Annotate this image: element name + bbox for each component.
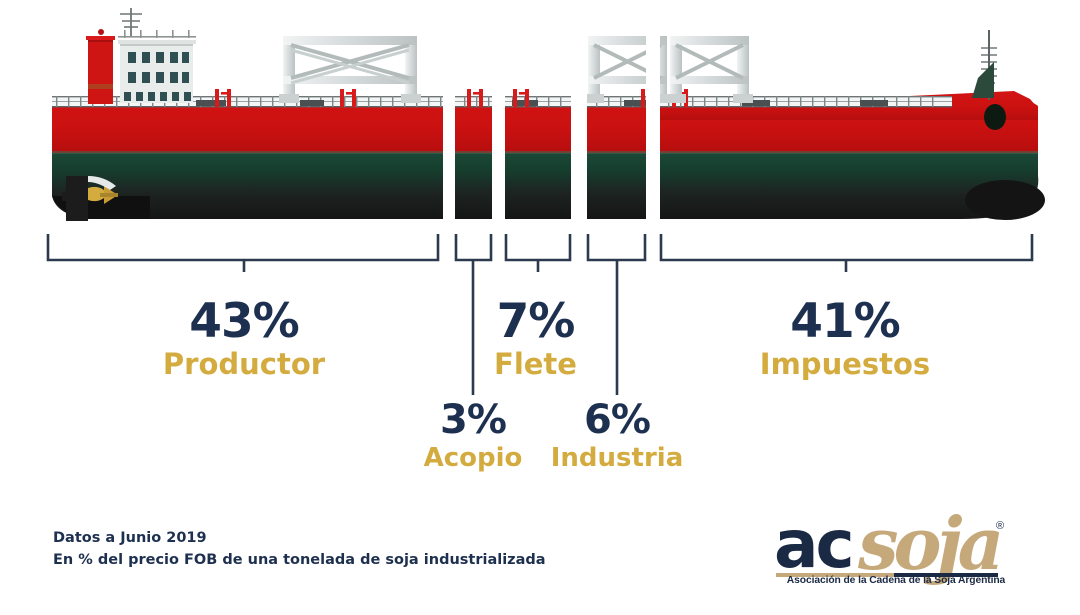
callout-industria-label: Industria — [522, 445, 712, 471]
callout-industria: 6% Industria — [522, 400, 712, 471]
footnote: Datos a Junio 2019 En % del precio FOB d… — [53, 527, 546, 572]
callout-industria-percent: 6% — [522, 400, 712, 440]
callout-flete-label: Flete — [453, 350, 618, 379]
footnote-line-2: En % del precio FOB de una tonelada de s… — [53, 549, 546, 571]
callout-impuestos-percent: 41% — [718, 298, 972, 345]
cargo-ship-illustration — [0, 0, 1080, 245]
bracket-flete — [506, 234, 570, 272]
callout-productor: 43% Productor — [113, 298, 375, 379]
logo-registered-icon: ® — [996, 520, 1004, 532]
logo-tagline: Asociación de la Cadena de la Soja Argen… — [772, 575, 1020, 586]
callout-flete: 7% Flete — [453, 298, 618, 379]
footnote-line-1: Datos a Junio 2019 — [53, 527, 546, 549]
bracket-impuestos — [661, 234, 1032, 272]
infographic-root: 43% Productor 3% Acopio 7% Flete 6% Indu… — [0, 0, 1080, 615]
callout-flete-percent: 7% — [453, 298, 618, 345]
callout-impuestos: 41% Impuestos — [718, 298, 972, 379]
callout-impuestos-label: Impuestos — [718, 350, 972, 379]
callout-productor-label: Productor — [113, 350, 375, 379]
callout-productor-percent: 43% — [113, 298, 375, 345]
logo-text-dark: ac — [774, 506, 852, 583]
bracket-productor — [48, 234, 438, 272]
